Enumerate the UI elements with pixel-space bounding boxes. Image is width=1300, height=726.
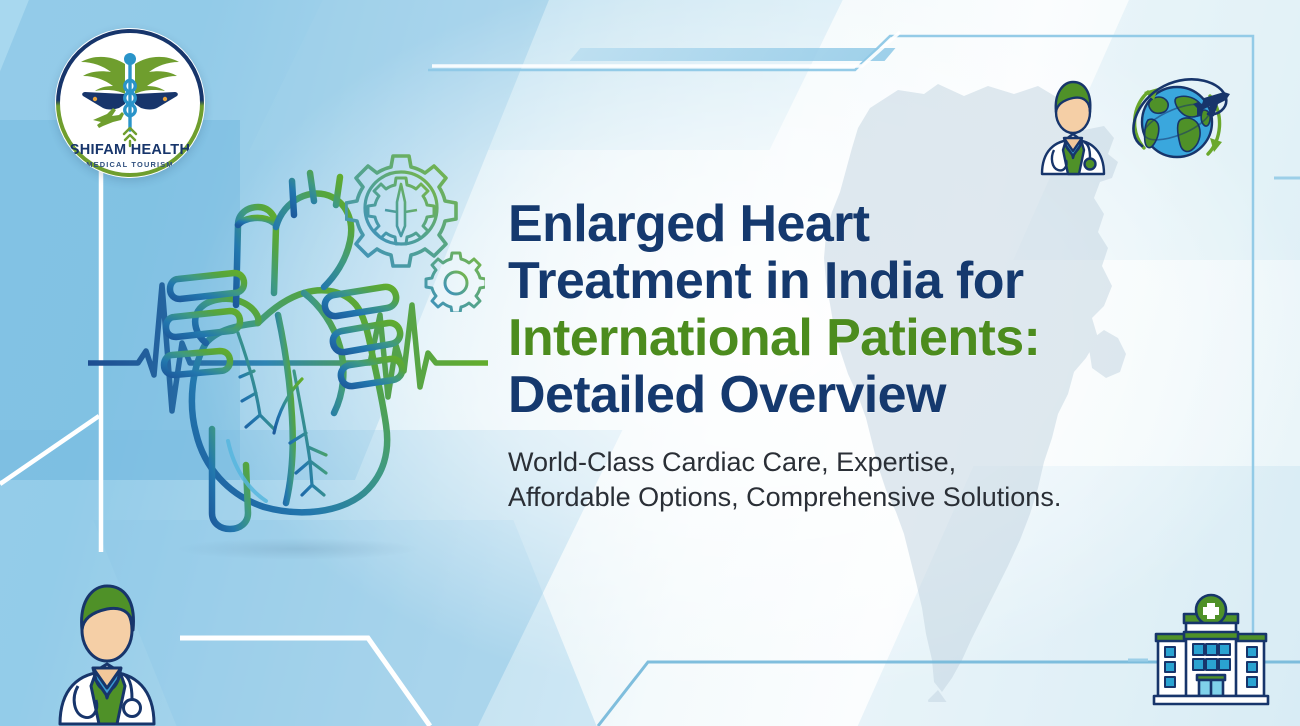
headline-line-2: Treatment in India for bbox=[508, 253, 1208, 310]
headline-line-3: International Patients: bbox=[508, 310, 1208, 367]
hospital-building-bottom-right-icon bbox=[1150, 592, 1272, 708]
logo-brand-name: SHIFAM HEALTH bbox=[70, 142, 190, 158]
gear-large-icon bbox=[346, 156, 456, 266]
doctor-avatar-bottom-left-icon bbox=[46, 572, 168, 726]
vessel-left-1 bbox=[170, 273, 244, 299]
page-subtitle: World-Class Cardiac Care, Expertise, Aff… bbox=[508, 445, 1208, 515]
gears-illustration bbox=[345, 152, 485, 312]
doctor-avatar-top-right-icon bbox=[1032, 72, 1114, 176]
page-title: Enlarged Heart Treatment in India for In… bbox=[508, 196, 1208, 424]
subtitle-line-2: Affordable Options, Comprehensive Soluti… bbox=[508, 480, 1208, 515]
headline-line-1: Enlarged Heart bbox=[508, 196, 1208, 253]
brand-logo[interactable]: SHIFAM HEALTH MEDICAL TOURISM bbox=[55, 28, 205, 178]
headline-line-4: Detailed Overview bbox=[508, 367, 1208, 424]
caduceus-orb-icon bbox=[124, 53, 136, 65]
subtitle-line-1: World-Class Cardiac Care, Expertise, bbox=[508, 445, 1208, 480]
vessel-left-2 bbox=[166, 311, 240, 337]
globe-airplane-top-right-icon bbox=[1118, 62, 1236, 180]
copy-block: Enlarged Heart Treatment in India for In… bbox=[508, 196, 1208, 515]
pulmonary-trunk bbox=[276, 194, 351, 287]
coronary-left bbox=[238, 333, 274, 429]
gear-small-icon bbox=[426, 253, 485, 312]
promo-banner: SHIFAM HEALTH MEDICAL TOURISM bbox=[0, 0, 1300, 726]
